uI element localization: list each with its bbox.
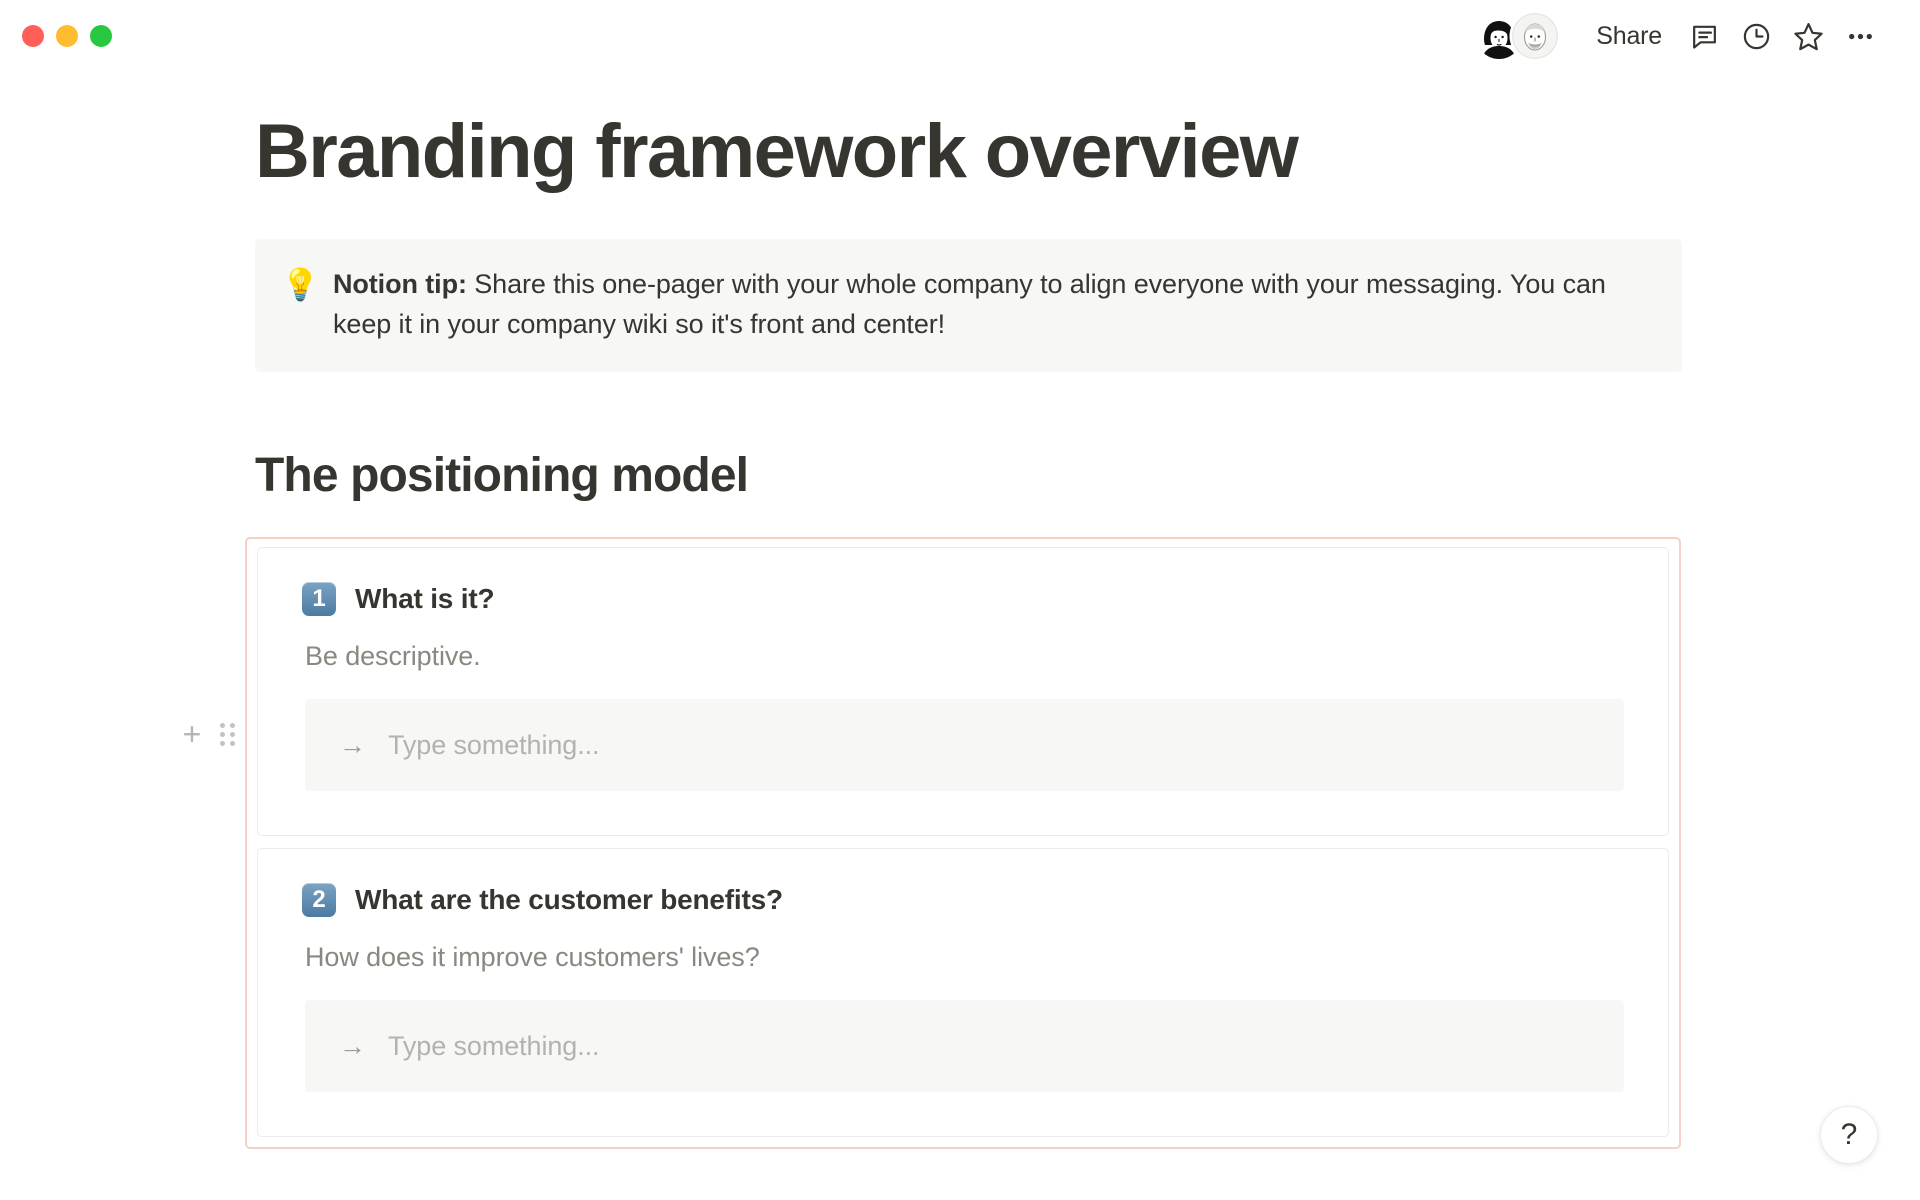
answer-placeholder: Type something... — [388, 730, 599, 761]
question-subtitle[interactable]: How does it improve customers' lives? — [305, 942, 1624, 973]
page-title[interactable]: Branding framework overview — [255, 112, 1725, 193]
document-content: Branding framework overview 💡 Notion tip… — [255, 72, 1725, 1149]
collaborator-avatars[interactable] — [1476, 13, 1558, 59]
number-1-emoji: 1 — [302, 582, 336, 616]
question-card[interactable]: 2 What are the customer benefits? How do… — [257, 848, 1669, 1137]
maximize-window-button[interactable] — [90, 25, 112, 47]
history-icon[interactable] — [1730, 13, 1782, 59]
callout-lead: Notion tip: — [333, 269, 467, 299]
section-heading[interactable]: The positioning model — [255, 448, 1725, 503]
close-window-button[interactable] — [22, 25, 44, 47]
question-title[interactable]: What is it? — [355, 583, 494, 615]
favorite-icon[interactable] — [1782, 13, 1834, 59]
comment-icon[interactable] — [1678, 13, 1730, 59]
synced-block-container[interactable]: + 1 What is it? Be descriptive. → Type s… — [245, 537, 1681, 1149]
lightbulb-emoji: 💡 — [281, 265, 315, 345]
window-controls — [22, 25, 112, 47]
share-button[interactable]: Share — [1580, 16, 1678, 57]
question-header: 1 What is it? — [302, 582, 1624, 616]
more-options-icon[interactable] — [1834, 13, 1886, 59]
number-2-emoji: 2 — [302, 883, 336, 917]
document-scroll-area[interactable]: Branding framework overview 💡 Notion tip… — [0, 72, 1920, 1200]
toolbar-actions: Share — [1476, 13, 1886, 59]
drag-handle-icon[interactable] — [217, 721, 237, 747]
add-block-button[interactable]: + — [179, 721, 205, 747]
window-titlebar: Share — [0, 0, 1920, 72]
minimize-window-button[interactable] — [56, 25, 78, 47]
question-header: 2 What are the customer benefits? — [302, 883, 1624, 917]
answer-placeholder: Type something... — [388, 1031, 599, 1062]
question-title[interactable]: What are the customer benefits? — [355, 884, 783, 916]
question-subtitle[interactable]: Be descriptive. — [305, 641, 1624, 672]
question-answer-input[interactable]: → Type something... — [305, 699, 1624, 791]
avatar-user-2[interactable] — [1512, 13, 1558, 59]
question-card[interactable]: 1 What is it? Be descriptive. → Type som… — [257, 547, 1669, 836]
question-answer-input[interactable]: → Type something... — [305, 1000, 1624, 1092]
arrow-right-icon: → — [339, 1033, 366, 1060]
block-gutter-handles: + — [179, 721, 237, 747]
callout-text: Notion tip: Share this one-pager with yo… — [333, 265, 1654, 345]
callout-block[interactable]: 💡 Notion tip: Share this one-pager with … — [255, 239, 1682, 373]
arrow-right-icon: → — [339, 732, 366, 759]
help-button[interactable]: ? — [1820, 1106, 1878, 1164]
callout-body: Share this one-pager with your whole com… — [333, 269, 1606, 339]
